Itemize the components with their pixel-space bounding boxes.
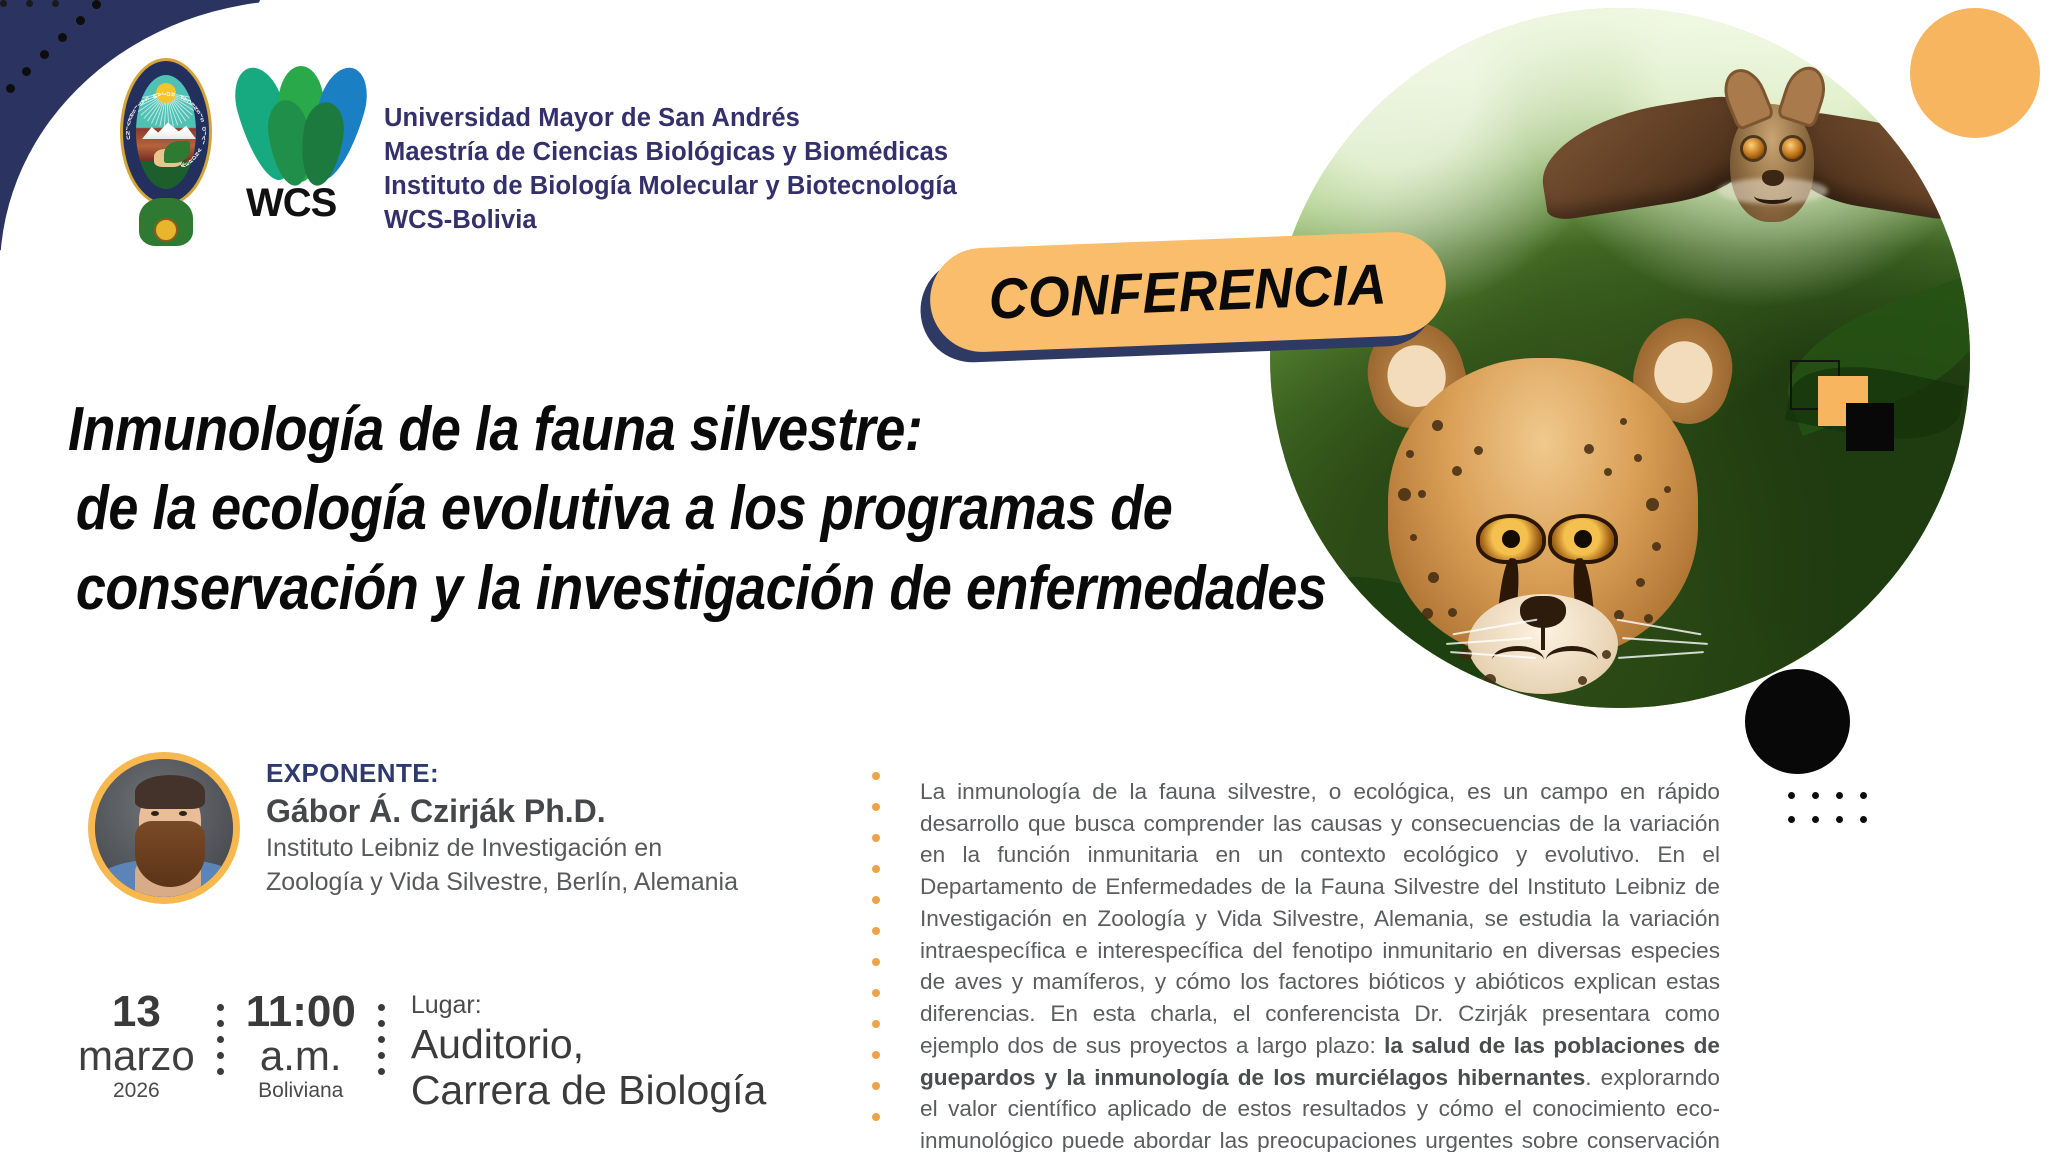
wcs-wordmark: WCS bbox=[246, 181, 336, 226]
umsa-seal-ring-text: UNIVERSITAS MAJOR PACENSIS DIVI ANDREÆ bbox=[123, 61, 209, 203]
event-time: 11:00 a.m. Boliviana bbox=[246, 990, 356, 1103]
org-line-institute: Instituto de Biología Molecular y Biotec… bbox=[384, 170, 957, 204]
event-timezone: Boliviana bbox=[246, 1078, 356, 1103]
wcs-logo: WCS bbox=[242, 58, 362, 228]
dot-separator bbox=[356, 990, 407, 1075]
event-month: marzo bbox=[78, 1034, 195, 1078]
place-line-1: Auditorio, bbox=[411, 1022, 767, 1068]
cheetah-mouth-line bbox=[1541, 626, 1545, 650]
bat-wing-left bbox=[1534, 92, 1762, 222]
org-line-university: Universidad Mayor de San Andrés bbox=[384, 102, 957, 136]
title-line-3: conservación y la investigación de enfer… bbox=[68, 549, 1025, 628]
speaker-label: EXPONENTE: bbox=[266, 758, 738, 789]
event-date: 13 marzo 2026 bbox=[78, 990, 195, 1103]
badge-label: CONFERENCIA bbox=[988, 251, 1388, 332]
black-circle-decoration bbox=[1745, 669, 1850, 774]
organization-names: Universidad Mayor de San Andrés Maestría… bbox=[384, 58, 957, 238]
bat-eye-left bbox=[1743, 138, 1764, 159]
cheetah-illustration bbox=[1332, 286, 1762, 708]
place-label: Lugar: bbox=[411, 990, 767, 1020]
cheetah-lip bbox=[1492, 646, 1544, 674]
event-year: 2026 bbox=[78, 1078, 195, 1103]
dot-separator bbox=[195, 990, 246, 1075]
cheetah-lip bbox=[1546, 646, 1598, 674]
event-day: 13 bbox=[78, 990, 195, 1034]
cheetah-eye-right bbox=[1552, 518, 1614, 560]
poster-title: Inmunología de la fauna silvestre: de la… bbox=[68, 390, 1168, 628]
poster-header: UNIVERSITAS MAJOR PACENSIS DIVI ANDREÆ W… bbox=[112, 58, 957, 238]
speaker-block: EXPONENTE: Gábor Á. Czirják Ph.D. Instit… bbox=[88, 752, 738, 904]
org-line-program: Maestría de Ciencias Biológicas y Bioméd… bbox=[384, 136, 957, 170]
speaker-avatar bbox=[88, 752, 240, 904]
badge-pill: CONFERENCIA bbox=[928, 230, 1448, 354]
bat-nose bbox=[1762, 170, 1784, 186]
bat-mouth bbox=[1754, 188, 1792, 204]
place-line-2: Carrera de Biología bbox=[411, 1068, 767, 1114]
orange-circle-decoration bbox=[1910, 8, 2040, 138]
bat-illustration bbox=[1540, 46, 1960, 276]
conferencia-badge: CONFERENCIA bbox=[928, 230, 1448, 354]
hero-wildlife-image bbox=[1270, 8, 1970, 708]
abstract-part-1: La inmunología de la fauna silvestre, o … bbox=[920, 779, 1720, 1058]
abstract-dot-rule bbox=[872, 772, 880, 1121]
bat-eye-right bbox=[1782, 138, 1803, 159]
speaker-name: Gábor Á. Czirják Ph.D. bbox=[266, 793, 738, 830]
dot-grid-decoration bbox=[1788, 792, 1908, 852]
speaker-affiliation-line-2: Zoología y Vida Silvestre, Berlín, Alema… bbox=[266, 867, 738, 898]
cheetah-nose bbox=[1520, 596, 1566, 628]
event-meridiem: a.m. bbox=[246, 1034, 356, 1078]
event-time-value: 11:00 bbox=[246, 990, 356, 1034]
conference-poster: UNIVERSITAS MAJOR PACENSIS DIVI ANDREÆ W… bbox=[0, 0, 2048, 1152]
event-place: Lugar: Auditorio, Carrera de Biología bbox=[407, 990, 767, 1114]
umsa-seal-logo: UNIVERSITAS MAJOR PACENSIS DIVI ANDREÆ bbox=[112, 58, 220, 226]
cheetah-eye-left bbox=[1480, 518, 1542, 560]
abstract-text: La inmunología de la fauna silvestre, o … bbox=[920, 776, 1720, 1152]
org-line-wcs: WCS-Bolivia bbox=[384, 204, 957, 238]
event-details: 13 marzo 2026 11:00 a.m. Boliviana Lugar… bbox=[78, 990, 766, 1114]
title-line-1: Inmunología de la fauna silvestre: bbox=[68, 390, 1025, 469]
cheetah-head bbox=[1388, 358, 1698, 658]
title-line-2: de la ecología evolutiva a los programas… bbox=[68, 469, 1025, 548]
speaker-affiliation-line-1: Instituto Leibniz de Investigación en bbox=[266, 833, 738, 864]
black-square-decoration bbox=[1846, 403, 1894, 451]
